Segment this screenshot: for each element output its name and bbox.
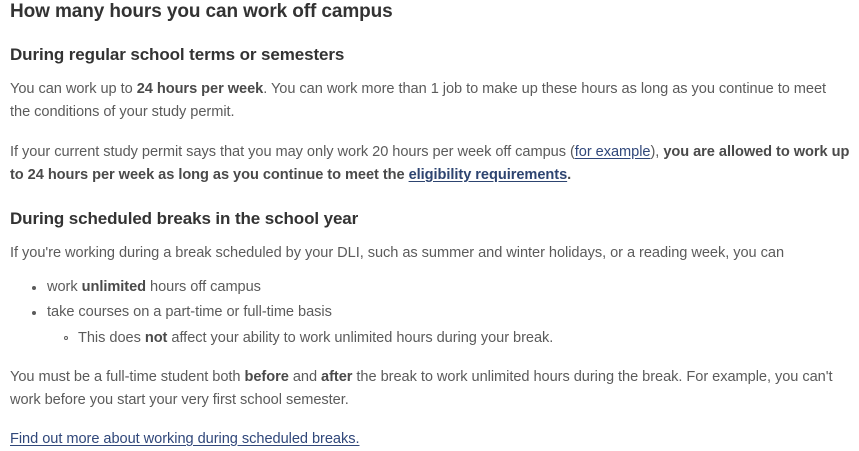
paragraph-find-out-more: Find out more about working during sched… bbox=[10, 428, 845, 451]
bold-after: after bbox=[321, 369, 352, 385]
text-fragment: hours off campus bbox=[146, 279, 261, 295]
paragraph-hours-per-week: You can work up to 24 hours per week. Yo… bbox=[10, 78, 850, 124]
text-fragment: If your current study permit says that y… bbox=[10, 144, 575, 160]
text-fragment: . bbox=[567, 167, 571, 183]
text-fragment: work bbox=[47, 279, 82, 295]
bold-24-hours-per-week: 24 hours per week bbox=[137, 81, 264, 97]
section-heading-scheduled-breaks: During scheduled breaks in the school ye… bbox=[10, 209, 845, 229]
bold-before: before bbox=[245, 369, 289, 385]
text-fragment: ), bbox=[650, 144, 663, 160]
list-item: work unlimited hours off campus bbox=[47, 276, 845, 299]
section-heading-regular-terms: During regular school terms or semesters bbox=[10, 45, 845, 65]
bold-unlimited: unlimited bbox=[82, 279, 146, 295]
page-title: How many hours you can work off campus bbox=[10, 0, 845, 23]
text-fragment: take courses on a part-time or full-time… bbox=[47, 304, 332, 320]
eligibility-requirements-link[interactable]: eligibility requirements bbox=[409, 167, 568, 183]
find-out-more-scheduled-breaks-link[interactable]: Find out more about working during sched… bbox=[10, 431, 359, 447]
break-allowances-list: work unlimited hours off campus take cou… bbox=[10, 276, 845, 350]
content-page: How many hours you can work off campus D… bbox=[0, 0, 859, 418]
text-fragment: affect your ability to work unlimited ho… bbox=[167, 330, 553, 346]
text-fragment: and bbox=[289, 369, 321, 385]
text-fragment: This does bbox=[78, 330, 145, 346]
bold-not: not bbox=[145, 330, 168, 346]
list-item: take courses on a part-time or full-time… bbox=[47, 301, 845, 350]
text-fragment: You must be a full-time student both bbox=[10, 369, 245, 385]
nested-note-list: This does not affect your ability to wor… bbox=[47, 327, 845, 350]
paragraph-break-intro: If you're working during a break schedul… bbox=[10, 242, 855, 265]
paragraph-full-time-requirement: You must be a full-time student both bef… bbox=[10, 366, 845, 412]
for-example-link[interactable]: for example bbox=[575, 144, 651, 160]
list-item: This does not affect your ability to wor… bbox=[78, 327, 845, 350]
paragraph-20-hour-permit-note: If your current study permit says that y… bbox=[10, 141, 850, 187]
text-fragment: You can work up to bbox=[10, 81, 137, 97]
